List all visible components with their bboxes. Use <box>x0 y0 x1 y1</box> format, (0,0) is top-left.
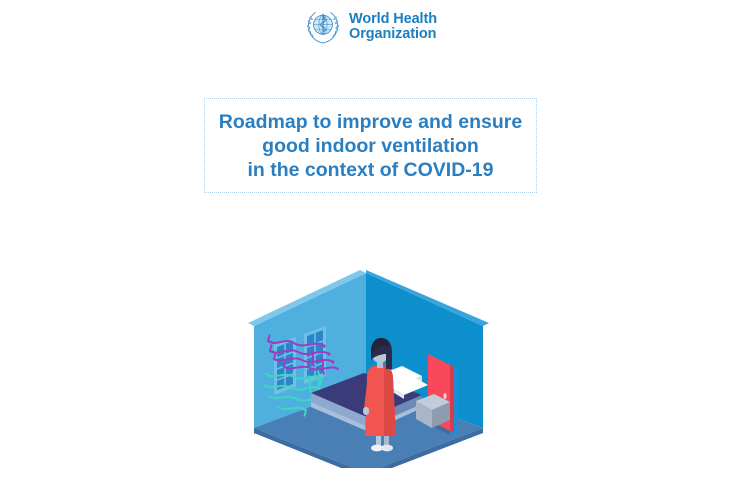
door-handle-icon <box>443 393 446 399</box>
page-title: Roadmap to improve and ensure good indoo… <box>215 110 526 182</box>
person-hand-left <box>363 407 369 415</box>
door-panel-edge <box>450 365 454 433</box>
who-logo: World Health Organization <box>0 8 741 46</box>
person-shoe-right <box>381 445 393 452</box>
who-wordmark: World Health Organization <box>349 12 437 43</box>
title-box: Roadmap to improve and ensure good indoo… <box>204 98 537 193</box>
room-scene-svg <box>236 268 516 468</box>
who-emblem-icon <box>304 8 342 46</box>
isometric-room-illustration <box>236 268 516 468</box>
